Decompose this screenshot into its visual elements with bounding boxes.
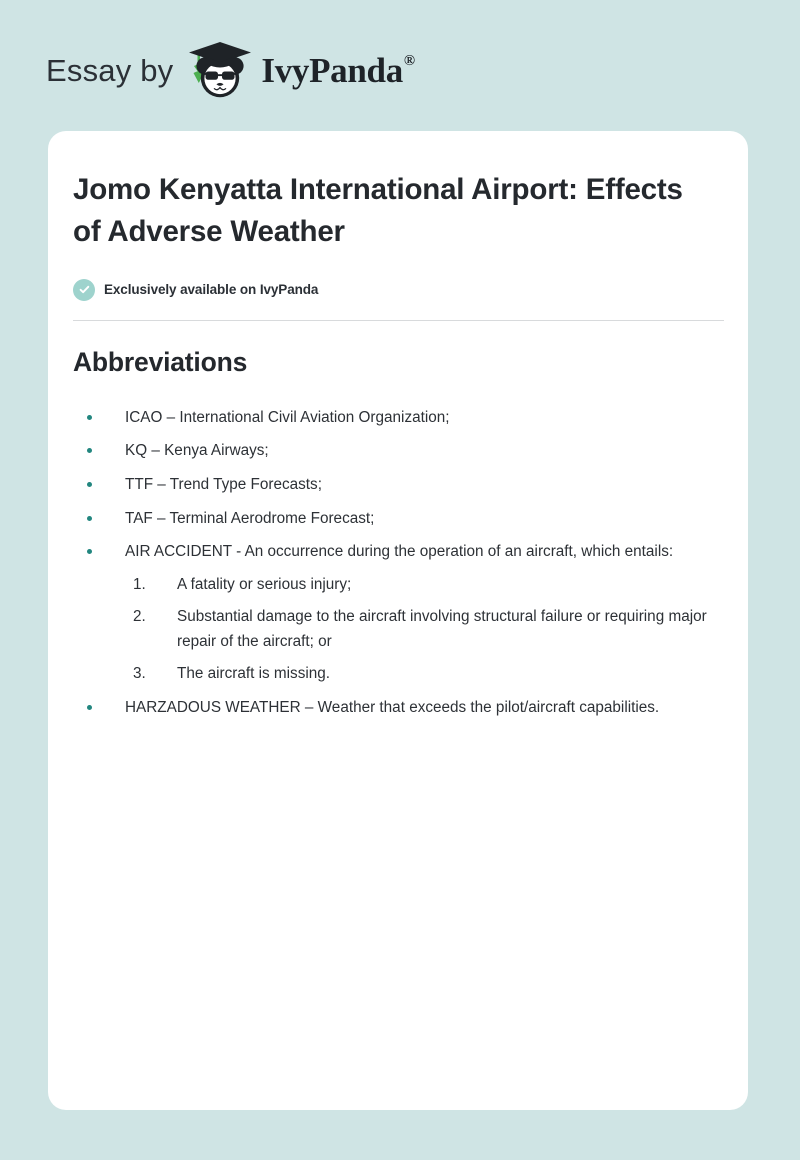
brand-header: Essay by — [46, 38, 414, 102]
brand-name-text: IvyPanda — [261, 53, 403, 88]
abbreviation-text: HARZADOUS WEATHER – Weather that exceeds… — [125, 699, 659, 716]
list-item: 1. A fatality or serious injury; — [125, 572, 722, 597]
list-item-text: Substantial damage to the aircraft invol… — [177, 608, 707, 650]
status-badge: Exclusively available on IvyPanda — [104, 283, 318, 297]
brand-wordmark: IvyPanda ® — [261, 53, 413, 88]
abbreviation-text: ICAO – International Civil Aviation Orga… — [125, 409, 450, 426]
list-item: AIR ACCIDENT - An occurrence during the … — [73, 539, 722, 686]
document-card: Jomo Kenyatta International Airport: Eff… — [48, 131, 748, 1110]
list-item: HARZADOUS WEATHER – Weather that exceeds… — [73, 695, 722, 720]
list-item: TAF – Terminal Aerodrome Forecast; — [73, 506, 722, 531]
list-item: KQ – Kenya Airways; — [73, 438, 722, 463]
list-item: 3. The aircraft is missing. — [125, 661, 722, 686]
list-item-number: 1. — [133, 572, 157, 597]
abbreviation-text: TAF – Terminal Aerodrome Forecast; — [125, 510, 374, 527]
check-circle-icon — [73, 279, 95, 301]
registered-trademark-icon: ® — [404, 54, 415, 69]
panda-graduate-icon — [187, 40, 253, 100]
section-heading-abbreviations: Abbreviations — [73, 347, 722, 379]
list-item: TTF – Trend Type Forecasts; — [73, 472, 722, 497]
abbreviations-list: ICAO – International Civil Aviation Orga… — [73, 405, 722, 721]
document-content: Jomo Kenyatta International Airport: Eff… — [48, 131, 748, 720]
page-title: Jomo Kenyatta International Airport: Eff… — [73, 169, 693, 253]
page-root: Essay by — [0, 0, 800, 1160]
essay-by-label: Essay by — [46, 55, 173, 86]
exclusive-availability-badge: Exclusively available on IvyPanda — [73, 279, 722, 301]
list-item-text: A fatality or serious injury; — [177, 576, 351, 593]
air-accident-sublist: 1. A fatality or serious injury; 2. Subs… — [125, 572, 722, 687]
abbreviation-text: TTF – Trend Type Forecasts; — [125, 476, 322, 493]
list-item-number: 3. — [133, 661, 157, 686]
list-item: 2. Substantial damage to the aircraft in… — [125, 604, 722, 654]
abbreviation-text: AIR ACCIDENT - An occurrence during the … — [125, 543, 673, 560]
list-item: ICAO – International Civil Aviation Orga… — [73, 405, 722, 430]
list-item-text: The aircraft is missing. — [177, 665, 330, 682]
abbreviation-text: KQ – Kenya Airways; — [125, 442, 269, 459]
ivypanda-logo[interactable]: IvyPanda ® — [187, 40, 413, 100]
divider — [73, 320, 724, 321]
list-item-number: 2. — [133, 604, 157, 629]
